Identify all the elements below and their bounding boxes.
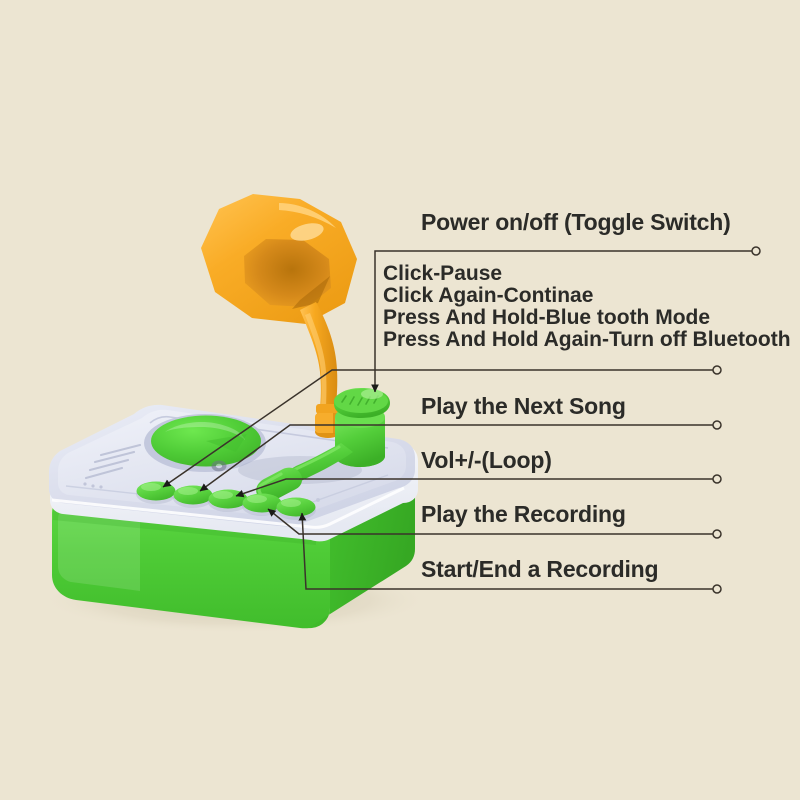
leader-dot-start-recording [713,585,721,593]
leader-dot-power [752,247,760,255]
logo-mark [212,461,227,472]
button-sheen-2 [178,487,198,495]
leader-dot-bluetooth [713,366,721,374]
leader-dot-next [713,421,721,429]
callout-label-bluetooth: Click-Pause Click Again-Continae Press A… [383,263,791,351]
product-illustration [0,0,800,800]
button-sheen-4 [247,495,267,503]
leader-dot-volume [713,475,721,483]
bluetooth-line-4: Press And Hold Again-Turn off Bluetooth [383,329,791,351]
button-sheen-5 [281,499,301,507]
diagram-canvas: Power on/off (Toggle Switch) Click-Pause… [0,0,800,800]
callout-label-volume: Vol+/-(Loop) [421,448,552,472]
button-sheen-3 [213,491,233,499]
leader-dot-play-recording [713,530,721,538]
horn-stem [300,302,337,414]
bluetooth-line-3: Press And Hold-Blue tooth Mode [383,307,791,329]
callout-label-play-recording: Play the Recording [421,502,626,526]
callout-label-next-song: Play the Next Song [421,394,626,418]
callout-label-start-recording: Start/End a Recording [421,557,658,581]
callout-label-power: Power on/off (Toggle Switch) [421,210,731,234]
bluetooth-line-1: Click-Pause [383,263,791,285]
gramophone-horn [201,194,357,438]
bluetooth-line-2: Click Again-Continae [383,285,791,307]
button-sheen-1 [141,483,161,491]
toggle-highlight [361,389,383,399]
